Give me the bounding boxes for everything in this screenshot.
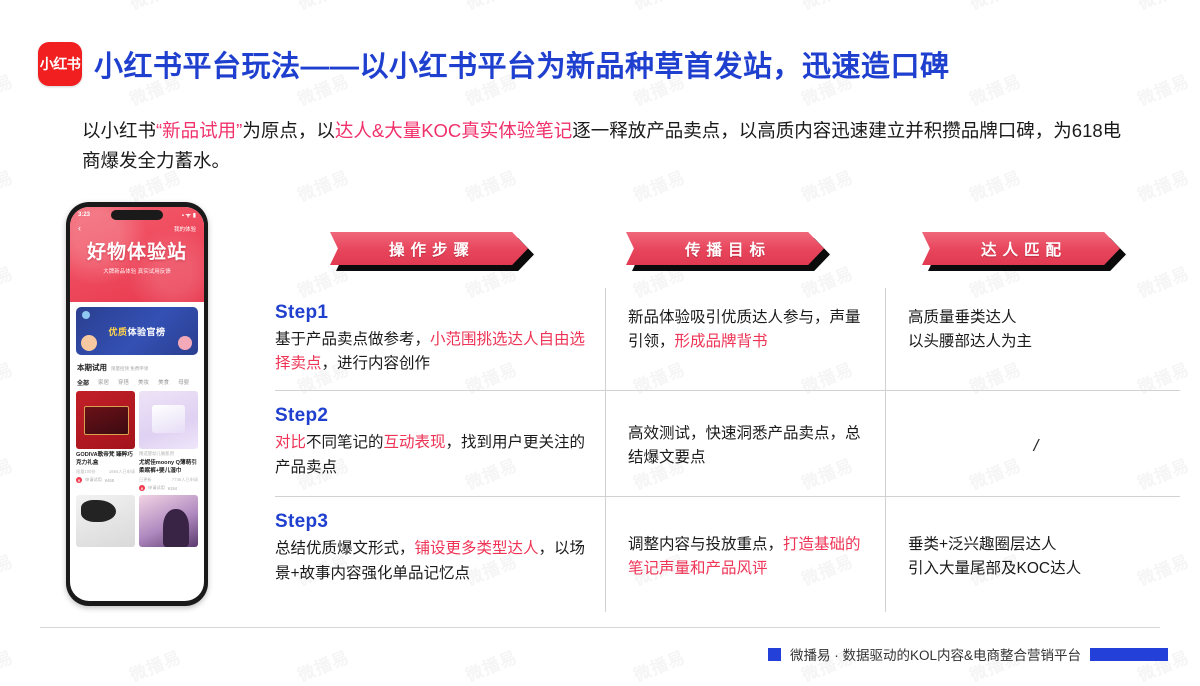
intro-paragraph: 以小红书“新品试用”为原点，以达人&大量KOC真实体验笔记逐一释放产品卖点，以高… [82,116,1132,176]
step-description: 基于产品卖点做参考，小范围挑选达人自由选择卖点，进行内容创作 [275,328,589,376]
status-time: 3:23 [78,212,90,218]
apply-label[interactable]: 申请试用 [148,485,165,491]
footer-text: 微播易 · 数据驱动的KOL内容&电商整合营销平台 [790,644,1081,664]
banner-blob-left [81,335,97,351]
cell-match: 垂类+泛兴趣圈层达人引入大量尾部及KOC达人 [885,497,1180,612]
watermark-text: 微播易 [0,163,17,206]
step-description: 对比不同笔记的互动表现，找到用户更关注的产品卖点 [275,431,589,479]
watermark-text: 微播易 [0,0,17,14]
watermark-text: 微播易 [965,0,1024,14]
goal-description: 高效测试，快速洞悉产品卖点，总结爆文要点 [628,418,869,470]
highlight-run: 形成品牌背书 [675,333,768,350]
highlight-run: 对比 [275,434,306,451]
intro-seg-2: 为原点，以 [242,120,335,141]
watermark-text: 微播易 [1133,0,1192,14]
tab-home[interactable]: 家居 [98,378,109,387]
phone-mockup: 3:23 ▪ ᯤ ▮ ‹ 我的体验 好物体验站 大牌新品体验 真实试用反馈 优质… [66,202,208,606]
ribbon-front: 达人匹配 [922,232,1120,265]
product-image[interactable] [139,495,198,547]
watermark-text: 微播易 [0,643,17,686]
my-experience-link[interactable]: 我的体验 [174,225,196,233]
section-subtitle: 限量招领 免费申领 [111,366,148,372]
cell-steps: Step3 总结优质爆文形式，铺设更多类型达人，以场景+故事内容强化单品记忆点 [275,497,605,612]
product-meta: 限量100份 1664人已申请 [76,469,135,475]
product-pretitle: 精选婴幼儿敏肌用 [139,451,198,457]
banner-title-b: 体验官榜 [128,327,166,337]
section-title: 本期试用 [77,362,107,373]
text-run: 总结优质爆文形式， [275,540,415,557]
apply-icon: ¥ [139,485,145,491]
product-applicants: 1664人已申请 [109,469,135,475]
steps-table: Step1 基于产品卖点做参考，小范围挑选达人自由选择卖点，进行内容创作 新品体… [275,288,1180,612]
table-row: Step1 基于产品卖点做参考，小范围挑选达人自由选择卖点，进行内容创作 新品体… [275,288,1180,390]
match-description: 垂类+泛兴趣圈层达人引入大量尾部及KOC达人 [908,529,1081,581]
ribbon-label: 传播目标 [679,238,771,260]
back-icon[interactable]: ‹ [78,224,81,233]
logo-label: 小红书 [40,57,81,71]
text-run: 以头腰部达人为主 [908,333,1032,350]
phone-notch [111,210,163,220]
cell-steps: Step2 对比不同笔记的互动表现，找到用户更关注的产品卖点 [275,391,605,496]
text-run: 引入大量尾部及KOC达人 [908,560,1081,577]
watermark-text: 微播易 [0,547,17,590]
product-image[interactable] [76,495,135,547]
tab-fashion[interactable]: 穿搭 [118,378,129,387]
product-meta: 日更新 7748人已申请 [139,477,198,483]
tab-all[interactable]: 全部 [77,378,89,387]
banner-blob-right [178,336,192,350]
product-stock: 日更新 [139,477,152,483]
cell-goals: 高效测试，快速洞悉产品卖点，总结爆文要点 [605,391,885,496]
product-price: ¥194 [168,486,177,491]
watermark-text: 微播易 [0,451,17,494]
product-title: 尤妮佳moony Q薄萌引柔眠裤+婴儿湿巾 [139,459,198,475]
watermark-text: 微播易 [797,0,856,14]
product-footer: ¥ 申请试用 ¥194 [139,485,198,491]
ribbon-header-match: 达人匹配 [922,232,1120,265]
ribbon-front: 操作步骤 [330,232,528,265]
cell-goals: 新品体验吸引优质达人参与，声量引领，形成品牌背书 [605,288,885,390]
ribbon-header-goals: 传播目标 [626,232,824,265]
text-run: ，进行内容创作 [322,355,431,372]
highlight-run: 互动表现 [384,434,446,451]
watermark-text: 微播易 [125,643,184,686]
watermark-text: 微播易 [125,0,184,14]
tab-baby[interactable]: 母婴 [178,378,189,387]
watermark-text: 微播易 [0,355,17,398]
ribbon-header-steps: 操作步骤 [330,232,528,265]
text-run: 不同笔记的 [306,434,384,451]
watermark-text: 微播易 [629,643,688,686]
table-row: Step2 对比不同笔记的互动表现，找到用户更关注的产品卖点 高效测试，快速洞悉… [275,390,1180,496]
footer-divider [40,627,1160,628]
apply-label[interactable]: 申请试用 [85,477,102,483]
phone-screen: 3:23 ▪ ᯤ ▮ ‹ 我的体验 好物体验站 大牌新品体验 真实试用反馈 优质… [70,207,204,601]
step-label: Step2 [275,405,589,427]
footer-bar [1090,648,1168,661]
product-stock: 限量100份 [76,469,96,475]
goal-description: 调整内容与投放重点，打造基础的笔记声量和产品风评 [628,529,869,581]
hero-title: 好物体验站 [70,237,204,264]
app-nav-bar: ‹ 我的体验 [70,219,204,233]
cell-goals: 调整内容与投放重点，打造基础的笔记声量和产品风评 [605,497,885,612]
cell-match: 高质量垂类达人以头腰部达人为主 [885,288,1180,390]
text-run: 基于产品卖点做参考， [275,331,430,348]
step-label: Step1 [275,302,589,324]
watermark-text: 微播易 [1133,67,1192,110]
experience-leaderboard-banner[interactable]: 优质体验官榜 [76,307,198,355]
watermark-text: 微播易 [0,67,17,110]
product-footer: ¥ 申请试用 ¥468 [76,477,135,483]
tab-beauty[interactable]: 美妆 [138,378,149,387]
banner-title: 优质体验官榜 [108,325,165,338]
app-hero-banner: 3:23 ▪ ᯤ ▮ ‹ 我的体验 好物体验站 大牌新品体验 真实试用反馈 [70,207,204,302]
product-price: ¥468 [105,478,114,483]
text-run: 调整内容与投放重点， [628,536,783,553]
watermark-text: 微播易 [461,643,520,686]
ribbon-label: 操作步骤 [383,238,475,260]
product-grid: GODIVA歌帝梵 臻粹巧克力礼盒 限量100份 1664人已申请 ¥ 申请试用… [70,391,204,547]
goal-description: 新品体验吸引优质达人参与，声量引领，形成品牌背书 [628,302,869,354]
step-description: 总结优质爆文形式，铺设更多类型达人，以场景+故事内容强化单品记忆点 [275,537,589,585]
watermark-text: 微播易 [293,643,352,686]
banner-blob-top [82,311,90,319]
intro-highlight-1: “新品试用” [156,120,242,141]
product-image [139,391,198,449]
watermark-text: 微播易 [461,0,520,14]
cell-match: / [885,391,1180,496]
footer: 微播易 · 数据驱动的KOL内容&电商整合营销平台 [768,644,1168,664]
watermark-text: 微播易 [965,67,1024,110]
ribbon-label: 达人匹配 [975,238,1067,260]
product-card[interactable]: 精选婴幼儿敏肌用 尤妮佳moony Q薄萌引柔眠裤+婴儿湿巾 日更新 7748人… [139,391,198,491]
xiaohongshu-logo-icon: 小红书 [38,42,82,86]
hero-subtitle: 大牌新品体验 真实试用反馈 [70,267,204,275]
product-card[interactable]: GODIVA歌帝梵 臻粹巧克力礼盒 限量100份 1664人已申请 ¥ 申请试用… [76,391,135,491]
watermark-text: 微播易 [0,259,17,302]
product-applicants: 7748人已申请 [172,477,198,483]
intro-seg-1: 以小红书 [82,120,156,141]
ribbon-front: 传播目标 [626,232,824,265]
product-title: GODIVA歌帝梵 臻粹巧克力礼盒 [76,451,135,467]
column-headers: 操作步骤 传播目标 达人匹配 [330,232,1140,276]
watermark-text: 微播易 [1133,163,1192,206]
banner-title-a: 优质 [108,327,127,337]
highlight-run: 铺设更多类型达人 [415,540,539,557]
watermark-text: 微播易 [629,0,688,14]
page-header: 小红书 小红书平台玩法——以小红书平台为新品种草首发站，迅速造口碑 [38,42,950,86]
footer-square-icon [768,648,781,661]
text-run: 高效测试，快速洞悉产品卖点，总结爆文要点 [628,425,861,466]
text-run: 高质量垂类达人 [908,309,1017,326]
table-row: Step3 总结优质爆文形式，铺设更多类型达人，以场景+故事内容强化单品记忆点 … [275,496,1180,612]
match-description: / [908,429,1164,460]
category-tabs[interactable]: 全部 家居 穿搭 美妆 美食 母婴 [70,373,204,391]
match-description: 高质量垂类达人以头腰部达人为主 [908,302,1164,354]
cell-steps: Step1 基于产品卖点做参考，小范围挑选达人自由选择卖点，进行内容创作 [275,288,605,390]
intro-highlight-2: 达人&大量KOC真实体验笔记 [335,120,572,141]
apply-icon: ¥ [76,477,82,483]
text-run: 垂类+泛兴趣圈层达人 [908,536,1057,553]
watermark-text: 微播易 [293,0,352,14]
product-image [76,391,135,449]
step-label: Step3 [275,511,589,533]
page-title: 小红书平台玩法——以小红书平台为新品种草首发站，迅速造口碑 [94,43,950,85]
section-header: 本期试用 限量招领 免费申领 [70,355,204,373]
tab-food[interactable]: 美食 [158,378,169,387]
text-run: / [1034,436,1039,455]
status-icons: ▪ ᯤ ▮ [182,211,196,219]
